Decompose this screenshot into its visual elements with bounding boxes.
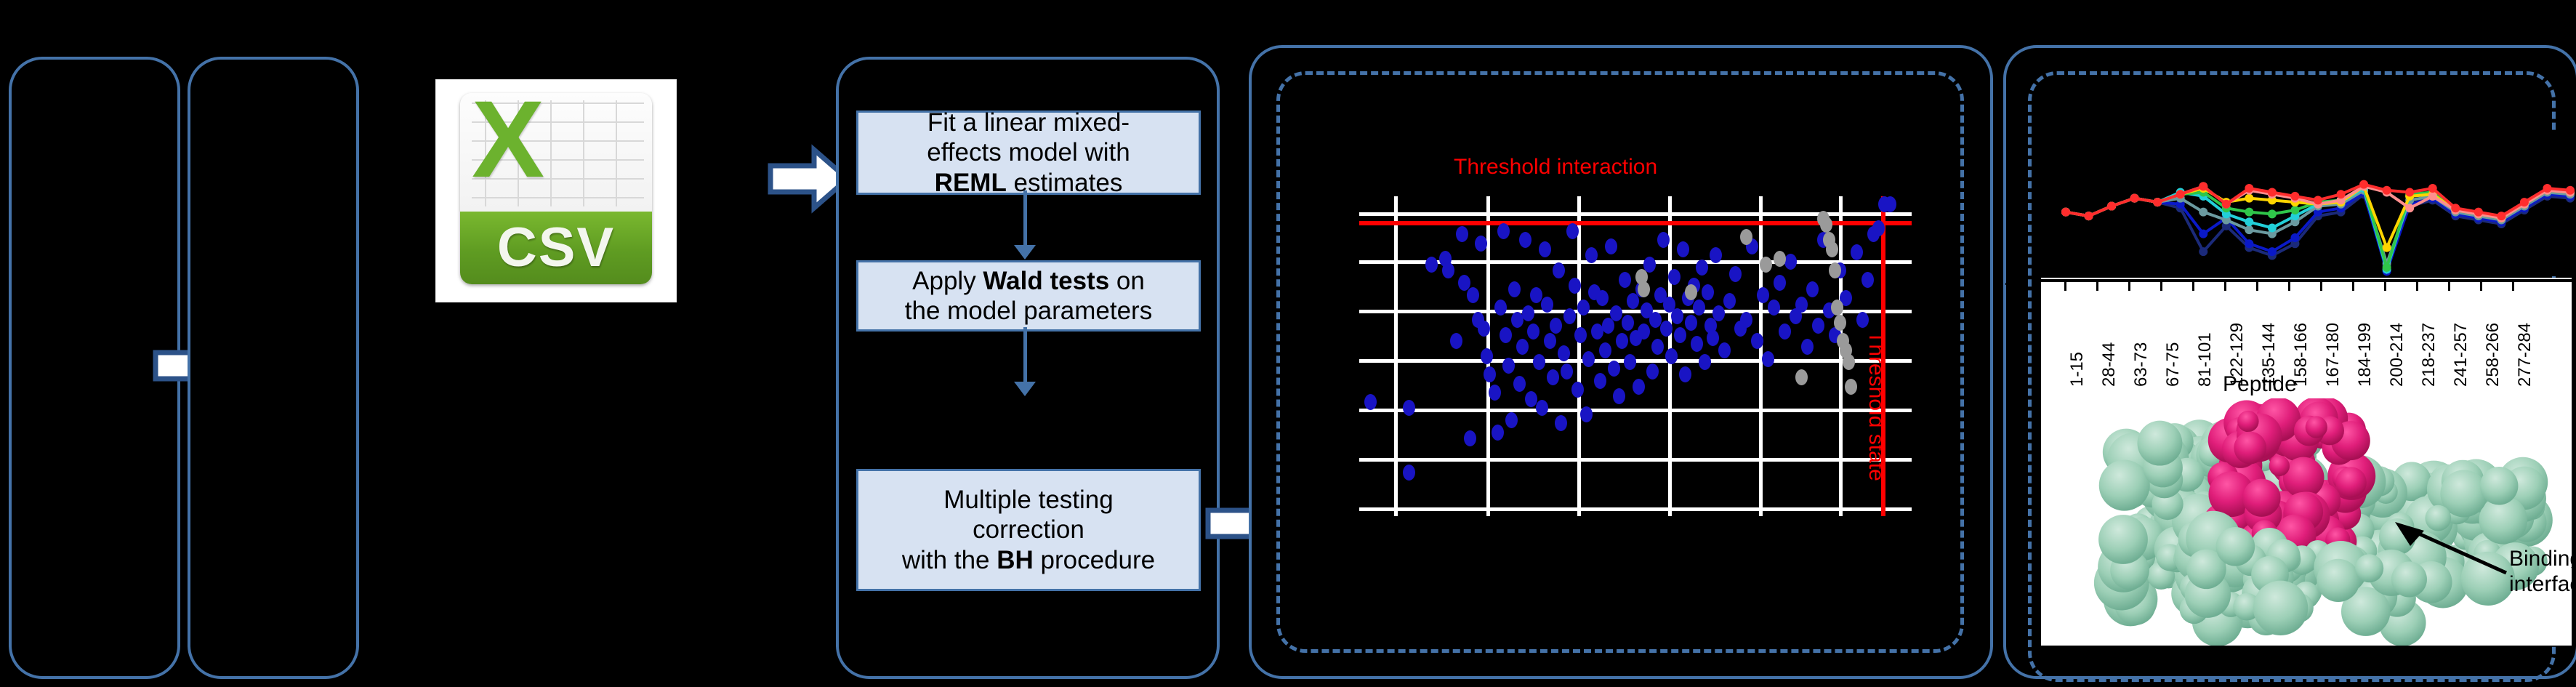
protein-surface-blob: [2461, 552, 2515, 606]
volcano-point: [1574, 327, 1587, 343]
volcano-point: [1834, 315, 1846, 331]
protein-surface-blob: [2391, 561, 2427, 597]
peptide-series-point: [2199, 230, 2207, 238]
volcano-point: [1723, 293, 1736, 309]
volcano-point: [1729, 266, 1742, 282]
csv-label: CSV: [497, 216, 615, 279]
protein-surface-blob: [2355, 554, 2383, 582]
step-wald-box: Apply Wald tests on the model parameters: [856, 260, 1201, 332]
volcano-point: [1541, 297, 1553, 313]
volcano-point: [1481, 348, 1493, 364]
step-bh-line1: Multiple testing: [943, 486, 1113, 514]
step-bh-line3-post: procedure: [1034, 546, 1155, 574]
volcano-point: [1638, 324, 1650, 340]
peptide-series-point: [2359, 180, 2368, 189]
csv-panel: [188, 57, 359, 679]
volcano-point: [1696, 260, 1708, 276]
volcano-point: [1508, 281, 1521, 297]
peptide-axis-area: 1-1528-4463-7367-7581-101122-129135-1441…: [2041, 278, 2572, 398]
volcano-point: [1425, 257, 1438, 273]
volcano-point: [1497, 223, 1510, 239]
peptide-series-point: [2199, 208, 2207, 217]
peptide-series-point: [2245, 239, 2253, 248]
volcano-point: [1699, 354, 1711, 370]
volcano-point: [1801, 339, 1814, 355]
peptide-tick-label: 241-257: [2451, 323, 2471, 387]
volcano-point: [1843, 354, 1855, 370]
peptide-axis-tick: [2480, 281, 2482, 291]
peptide-axis-tick: [2288, 281, 2290, 291]
volcano-point: [1685, 315, 1697, 331]
volcano-point: [1536, 400, 1548, 416]
volcano-point: [1513, 376, 1526, 392]
volcano-point: [1861, 272, 1874, 288]
volcano-point: [1519, 232, 1531, 248]
volcano-point: [1475, 236, 1487, 252]
volcano-point: [1547, 369, 1559, 385]
protein-surface-blob: [2216, 527, 2255, 566]
volcano-point: [1550, 318, 1562, 334]
peptide-tick-label: 258-266: [2483, 323, 2503, 387]
volcano-point: [1539, 241, 1551, 257]
peptide-line-chart: [2035, 131, 2576, 276]
peptide-series-point: [2383, 186, 2391, 195]
volcano-point: [1516, 339, 1529, 355]
peptide-axis-tick: [2256, 281, 2258, 291]
volcano-point: [1774, 251, 1786, 267]
volcano-point: [1624, 354, 1636, 370]
step-wald-bold: Wald tests: [983, 267, 1109, 295]
volcano-point: [1674, 327, 1686, 343]
volcano-point: [1795, 297, 1808, 313]
volcano-point: [1494, 300, 1507, 316]
peptide-series-point: [2268, 188, 2277, 196]
volcano-point: [1619, 272, 1631, 288]
volcano-point: [1505, 412, 1518, 428]
peptide-series-point: [2245, 225, 2253, 234]
peptide-axis-tick: [2448, 281, 2450, 291]
volcano-point: [1806, 281, 1819, 297]
volcano-point: [1558, 345, 1570, 361]
protein-epitope-blob: [2234, 432, 2266, 465]
peptide-axis-tick: [2352, 281, 2354, 291]
volcano-point: [1555, 415, 1567, 431]
volcano-point: [1571, 382, 1584, 398]
csv-file-icon: X CSV: [436, 80, 676, 302]
protein-epitope-blob: [2242, 479, 2280, 517]
protein-surface-blob: [2317, 559, 2359, 602]
peptide-axis-tick: [2416, 281, 2418, 291]
connector-wald-to-bh: [1023, 327, 1027, 384]
peptide-series-point: [2543, 184, 2551, 193]
volcano-point: [1522, 305, 1534, 321]
peptide-tick-label: 200-214: [2387, 323, 2407, 387]
protein-epitope-blob: [2335, 467, 2367, 498]
peptide-series-point: [2107, 202, 2116, 211]
volcano-point: [1685, 284, 1697, 300]
peptide-series-point: [2474, 208, 2483, 217]
peptide-axis-tick: [2128, 281, 2130, 291]
protein-surface-blob: [2098, 515, 2148, 564]
threshold-state-label: Threshold state: [1864, 331, 1888, 481]
peptide-series-point: [2497, 212, 2505, 220]
peptide-series-point: [2428, 184, 2437, 193]
volcano-point: [1527, 324, 1539, 340]
volcano-point: [1649, 312, 1662, 328]
threshold-interaction-label: Threshold interaction: [1454, 155, 1657, 180]
volcano-point: [1489, 385, 1501, 401]
volcano-point: [1826, 241, 1838, 257]
peptide-tick-label: 184-199: [2355, 323, 2375, 387]
volcano-point: [1677, 241, 1689, 257]
volcano-point: [1851, 244, 1863, 260]
volcano-point: [1563, 308, 1576, 324]
volcano-point: [1605, 238, 1617, 254]
step-wald-line1-pre: Apply: [912, 267, 983, 295]
volcano-point: [1774, 275, 1786, 291]
volcano-point: [1712, 305, 1725, 321]
volcano-point: [1622, 315, 1634, 331]
volcano-point: [1599, 342, 1611, 358]
volcano-point: [1561, 363, 1573, 379]
volcano-point: [1582, 351, 1595, 367]
volcano-point: [1580, 406, 1593, 422]
volcano-point: [1679, 366, 1691, 382]
peptide-axis-tick: [2224, 281, 2226, 291]
peptide-series-point: [2314, 196, 2322, 204]
volcano-point: [1544, 333, 1556, 349]
volcano-point: [1740, 312, 1752, 328]
binding-interface-line2: interface: [2509, 572, 2576, 596]
volcano-point: [1762, 351, 1774, 367]
peptide-series-point: [2290, 233, 2299, 242]
peptide-tick-label: 277-284: [2515, 323, 2535, 387]
peptide-series-point: [2383, 263, 2391, 272]
protein-structure-image: [2041, 398, 2572, 646]
volcano-point: [1671, 308, 1683, 324]
peptide-series-point: [2428, 192, 2437, 201]
volcano-point: [1464, 430, 1476, 446]
peptide-series-point: [2268, 247, 2277, 256]
volcano-point: [1566, 223, 1579, 239]
volcano-plot: [1359, 196, 1912, 516]
volcano-point: [1553, 262, 1565, 278]
peptide-series-point: [2520, 198, 2529, 206]
protein-surface-blob: [2480, 467, 2518, 505]
peptide-axis-tick: [2384, 281, 2386, 291]
step-reml-line2: effects model with: [927, 138, 1130, 166]
volcano-point: [1812, 318, 1824, 334]
volcano-point: [1594, 373, 1606, 389]
volcano-point: [1707, 330, 1719, 346]
peptide-axis-tick: [2160, 281, 2162, 291]
volcano-point: [1500, 327, 1512, 343]
peptide-axis-tick: [2512, 281, 2514, 291]
volcano-point: [1364, 394, 1377, 410]
volcano-point: [1633, 379, 1645, 395]
peptide-tick-label: 67-75: [2163, 342, 2183, 387]
peptide-axis-tick: [2320, 281, 2322, 291]
volcano-point: [1610, 305, 1622, 321]
peptide-series-point: [2199, 247, 2207, 256]
protein-surface-blob: [2137, 421, 2182, 466]
volcano-point: [1829, 262, 1841, 278]
volcano-point: [1596, 290, 1609, 306]
protein-epitope-blob: [2237, 411, 2258, 432]
peptide-series-point: [2245, 217, 2253, 226]
binding-interface-line1: Binding: [2509, 547, 2576, 571]
volcano-point: [1577, 300, 1590, 316]
volcano-point: [1760, 257, 1772, 273]
volcano-point: [1456, 226, 1468, 242]
volcano-point: [1442, 262, 1454, 278]
peptide-axis-tick: [2192, 281, 2194, 291]
volcano-point: [1450, 333, 1462, 349]
protein-epitope-blob: [2306, 416, 2327, 438]
volcano-point: [1884, 196, 1896, 212]
step-bh-line2: correction: [973, 515, 1084, 544]
step-reml-line1: Fit a linear mixed-: [927, 108, 1130, 137]
volcano-point: [1820, 217, 1832, 233]
volcano-point: [1795, 369, 1808, 385]
peptide-axis-label: Peptide: [2223, 372, 2297, 397]
peptide-series-point: [2130, 194, 2139, 203]
peptide-series-point: [2405, 188, 2414, 196]
csv-excel-x-glyph: X: [468, 97, 549, 181]
volcano-point: [1784, 254, 1797, 270]
step-bh-bold: BH: [997, 546, 1034, 574]
peptide-tick-label: 28-44: [2099, 342, 2120, 387]
volcano-point: [1768, 300, 1780, 316]
peptide-series-point: [2245, 184, 2253, 193]
volcano-point: [1616, 333, 1628, 349]
peptide-tick-label: 218-237: [2419, 323, 2439, 387]
peptide-tick-label: 167-180: [2323, 323, 2343, 387]
protein-surface-blob: [2099, 460, 2150, 511]
peptide-series-point: [2290, 206, 2299, 214]
binding-interface-label: Binding interface: [2509, 547, 2576, 597]
volcano-point: [1467, 287, 1479, 303]
volcano-point: [1530, 287, 1542, 303]
protein-surface-blob: [2425, 505, 2451, 531]
peptide-series-point: [2222, 200, 2231, 209]
step-bh-line3-pre: with the: [902, 546, 997, 574]
step-wald-line1-post: on: [1109, 267, 1145, 295]
peptide-axis-tick: [2096, 281, 2098, 291]
peptide-series-point: [2268, 209, 2277, 218]
protein-surface-blob: [2253, 581, 2308, 635]
volcano-point: [1660, 321, 1673, 337]
volcano-point: [1533, 354, 1545, 370]
peptide-series-point: [2176, 190, 2185, 198]
volcano-point: [1646, 363, 1659, 379]
peptide-series-point: [2290, 192, 2299, 201]
peptide-series-point: [2061, 208, 2070, 217]
peptide-series-point: [2405, 204, 2414, 212]
step-bh-box: Multiple testing correction with the BH …: [856, 469, 1201, 591]
peptide-series-point: [2245, 208, 2253, 217]
peptide-series-point: [2337, 190, 2346, 198]
volcano-point: [1403, 465, 1415, 481]
volcano-point: [1856, 312, 1869, 328]
volcano-point: [1845, 379, 1857, 395]
volcano-point: [1702, 284, 1714, 300]
peptide-tick-label: 1-15: [2067, 352, 2088, 387]
volcano-point: [1502, 358, 1515, 374]
volcano-point: [1403, 400, 1415, 416]
csv-label-band: CSV: [460, 212, 652, 284]
peptide-series-point: [2245, 194, 2253, 203]
protein-epitope-blob: [2269, 456, 2290, 476]
step-reml-box: Fit a linear mixed- effects model with R…: [856, 111, 1201, 195]
volcano-point: [1525, 391, 1537, 407]
volcano-point: [1638, 281, 1650, 297]
volcano-point: [1651, 339, 1664, 355]
connector-wald-to-bh-head: [1014, 382, 1036, 396]
peptide-tick-label: 63-73: [2131, 342, 2152, 387]
volcano-point: [1718, 342, 1731, 358]
volcano-point: [1613, 388, 1625, 404]
connector-reml-to-wald: [1023, 190, 1027, 247]
peptide-series-point: [2383, 244, 2391, 252]
volcano-point: [1872, 220, 1885, 236]
step-wald-line2: the model parameters: [905, 297, 1152, 325]
connector-reml-to-wald-head: [1014, 245, 1036, 260]
peptide-series-point: [2199, 182, 2207, 190]
volcano-point: [1668, 269, 1681, 285]
peptide-series-point: [2153, 198, 2162, 206]
volcano-point: [1484, 366, 1496, 382]
volcano-point: [1757, 287, 1769, 303]
volcano-point: [1691, 336, 1703, 352]
csv-tile: X CSV: [460, 93, 652, 284]
volcano-point: [1779, 324, 1791, 340]
peptide-tick-label: 81-101: [2195, 332, 2215, 387]
volcano-point: [1608, 361, 1620, 377]
volcano-point: [1492, 425, 1504, 441]
peptide-series-point: [2566, 186, 2575, 195]
peptide-series-point: [2268, 223, 2277, 232]
peptide-series-point: [2085, 212, 2093, 220]
step-reml-bold: REML: [935, 169, 1007, 197]
peptide-series-point: [2451, 204, 2460, 212]
peptide-axis-tick: [2064, 281, 2066, 291]
peptide-y-tick: 0.0: [1993, 268, 2019, 290]
